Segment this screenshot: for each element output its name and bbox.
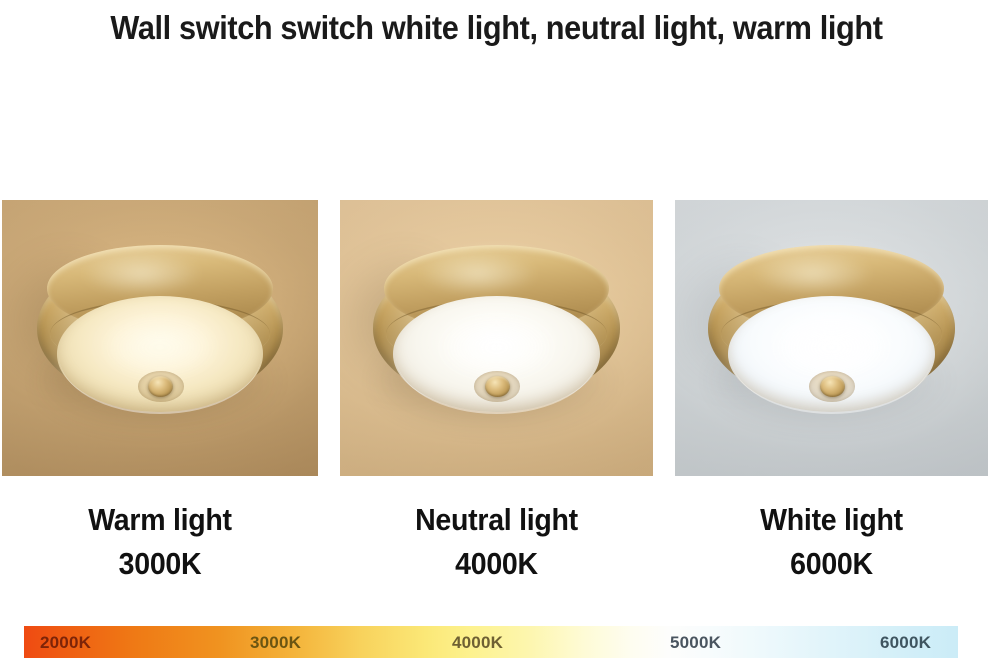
product-photo-row bbox=[0, 200, 993, 476]
ceiling-light-fixture-warm bbox=[29, 243, 291, 433]
center-finial-knob bbox=[148, 376, 173, 397]
caption-neutral-light: Neutral light 4000K bbox=[353, 498, 641, 586]
ceiling-light-fixture-white bbox=[701, 243, 963, 433]
kelvin-tick-5000k: 5000K bbox=[670, 626, 721, 658]
product-photo-warm-light bbox=[2, 200, 318, 476]
brass-top-highlight bbox=[81, 251, 202, 297]
caption-row: Warm light 3000K Neutral light 4000K Whi… bbox=[0, 498, 993, 598]
brass-top-highlight bbox=[753, 251, 874, 297]
kelvin-tick-6000k: 6000K bbox=[880, 626, 931, 658]
page-title: Wall switch switch white light, neutral … bbox=[35, 4, 958, 52]
kelvin-tick-4000k: 4000K bbox=[452, 626, 503, 658]
caption-neutral-name: Neutral light bbox=[415, 502, 578, 537]
kelvin-tick-2000k: 2000K bbox=[40, 626, 91, 658]
caption-warm-kelvin: 3000K bbox=[15, 542, 306, 586]
caption-warm-name: Warm light bbox=[88, 502, 232, 537]
caption-neutral-kelvin: 4000K bbox=[353, 542, 641, 586]
brass-top-highlight bbox=[418, 251, 539, 297]
product-photo-white-light bbox=[675, 200, 988, 476]
ceiling-light-fixture-neutral bbox=[366, 243, 628, 433]
color-temperature-gradient-bar: 2000K 3000K 4000K 5000K 6000K bbox=[24, 626, 958, 658]
caption-white-kelvin: 6000K bbox=[688, 542, 976, 586]
center-finial-knob bbox=[820, 376, 845, 397]
product-photo-neutral-light bbox=[340, 200, 653, 476]
caption-white-light: White light 6000K bbox=[688, 498, 976, 586]
caption-white-name: White light bbox=[760, 502, 903, 537]
kelvin-tick-3000k: 3000K bbox=[250, 626, 301, 658]
center-finial-knob bbox=[485, 376, 510, 397]
caption-warm-light: Warm light 3000K bbox=[15, 498, 306, 586]
